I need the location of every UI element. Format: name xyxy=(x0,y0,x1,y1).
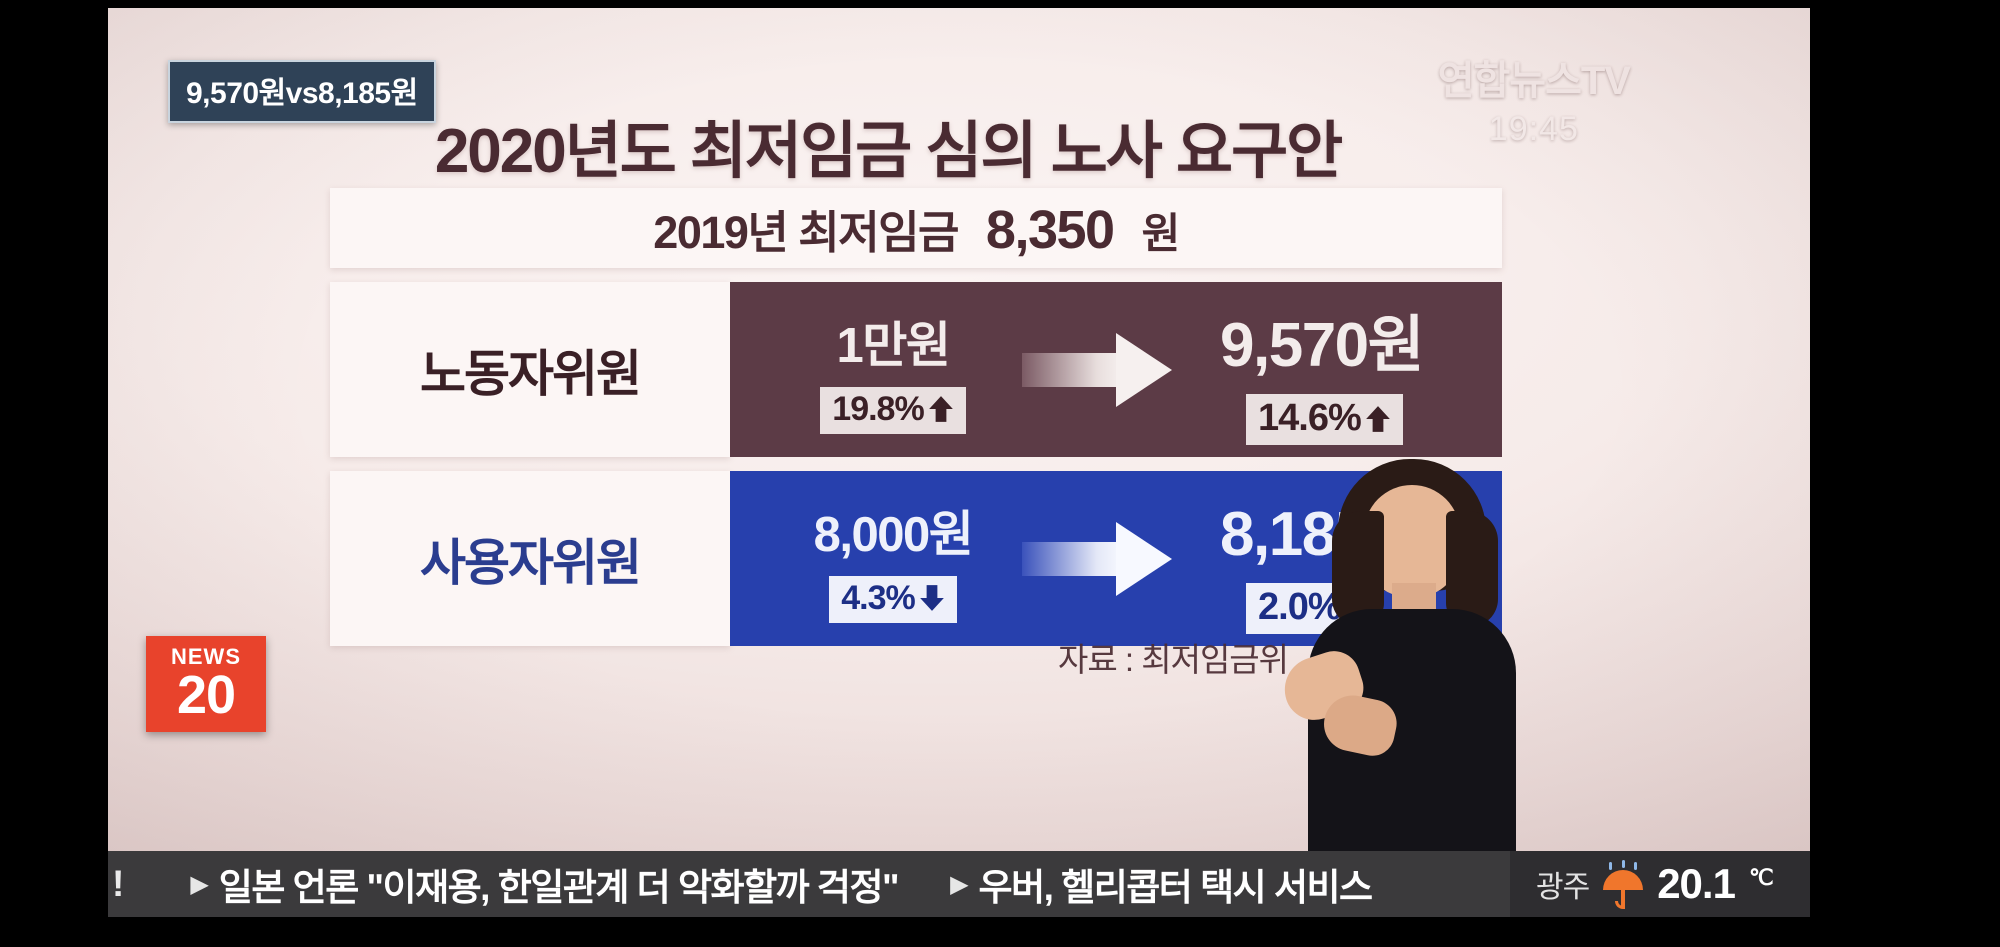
corner-badge: 9,570원vs8,185원 xyxy=(168,60,436,123)
row-label-labor: 노동자위원 xyxy=(330,282,730,457)
corner-badge-label: 9,570원vs8,185원 xyxy=(186,77,418,110)
channel-bug: 연합뉴스TV 19:45 xyxy=(1438,48,1630,149)
letterbox-right xyxy=(1810,0,2000,947)
initial-value-labor: 1만원 xyxy=(837,306,950,377)
initial-pct-employer: 4.3% xyxy=(841,579,915,618)
ticker-text-2: 우버, 헬리콥터 택시 서비스 xyxy=(979,857,1372,911)
arrow-up-icon xyxy=(1365,405,1391,433)
ticker-item-2: ▶ 우버, 헬리콥터 택시 서비스 xyxy=(898,851,1372,917)
transition-arrow-icon-labor xyxy=(1022,333,1172,407)
broadcast-frame: 연합뉴스TV 19:45 9,570원vs8,185원 2020년도 최저임금 … xyxy=(108,8,1810,917)
ticker-text-1: 일본 언론 "이재용, 한일관계 더 악화할까 걱정" xyxy=(219,857,898,911)
final-value-block-labor: 9,570원 14.6% xyxy=(1186,294,1472,445)
on-air-clock: 19:45 xyxy=(1438,110,1630,149)
initial-value-block-labor: 1만원 19.8% xyxy=(778,306,1008,434)
weather-temperature: 20.1 xyxy=(1657,860,1735,908)
ticker-marker-icon: ▶ xyxy=(190,870,208,899)
weather-unit: ℃ xyxy=(1749,865,1774,891)
letterbox-top xyxy=(0,0,2000,8)
baseline-amount: 8,350 xyxy=(986,199,1114,261)
transition-arrow-icon-employer xyxy=(1022,522,1172,596)
source-note: 자료 : 최저임금위 xyxy=(1058,633,1288,681)
initial-pct-labor: 19.8% xyxy=(832,390,923,429)
letterbox-bottom xyxy=(0,917,2000,947)
ticker-scroll-area: ! ▶ 일본 언론 "이재용, 한일관계 더 악화할까 걱정" ▶ 우버, 헬리… xyxy=(108,851,1510,917)
initial-value-block-employer: 8,000원 4.3% xyxy=(778,495,1008,623)
initial-value-employer: 8,000원 xyxy=(814,495,973,566)
table-row-labor: 노동자위원 1만원 19.8% xyxy=(330,282,1502,457)
baseline-label: 2019년 최저임금 xyxy=(653,196,958,261)
channel-name: 연합뉴스TV xyxy=(1438,48,1630,106)
row-panel-labor: 1만원 19.8% 9,570원 xyxy=(730,282,1502,457)
row-label-employer: 사용자위원 xyxy=(330,471,730,646)
baseline-unit: 원 xyxy=(1142,200,1179,261)
ticker-marker-icon: ▶ xyxy=(950,870,968,899)
sign-language-interpreter xyxy=(1302,459,1522,879)
initial-pct-badge-employer: 4.3% xyxy=(829,576,957,623)
weather-widget: 광주 20.1 ℃ xyxy=(1510,851,1810,917)
news-ticker: ! ▶ 일본 언론 "이재용, 한일관계 더 악화할까 걱정" ▶ 우버, 헬리… xyxy=(108,851,1810,917)
broadcast-stage: 연합뉴스TV 19:45 9,570원vs8,185원 2020년도 최저임금 … xyxy=(0,0,2000,947)
ticker-item-1: ▶ 일본 언론 "이재용, 한일관계 더 악화할까 걱정" xyxy=(124,851,898,917)
final-pct-badge-labor: 14.6% xyxy=(1246,394,1403,445)
final-pct-labor: 14.6% xyxy=(1258,397,1361,440)
final-value-labor: 9,570원 xyxy=(1220,294,1423,384)
baseline-row: 2019년 최저임금 8,350 원 xyxy=(330,188,1502,268)
arrow-up-icon xyxy=(928,395,954,423)
logo-line-2: 20 xyxy=(177,670,235,721)
weather-city: 광주 xyxy=(1536,862,1589,906)
initial-pct-badge-labor: 19.8% xyxy=(820,387,965,434)
letterbox-left xyxy=(0,0,108,947)
news-program-logo: NEWS 20 xyxy=(146,636,266,732)
arrow-down-icon xyxy=(919,584,945,612)
ticker-previous-sliver: ! xyxy=(108,851,124,917)
umbrella-rain-icon xyxy=(1603,862,1643,906)
